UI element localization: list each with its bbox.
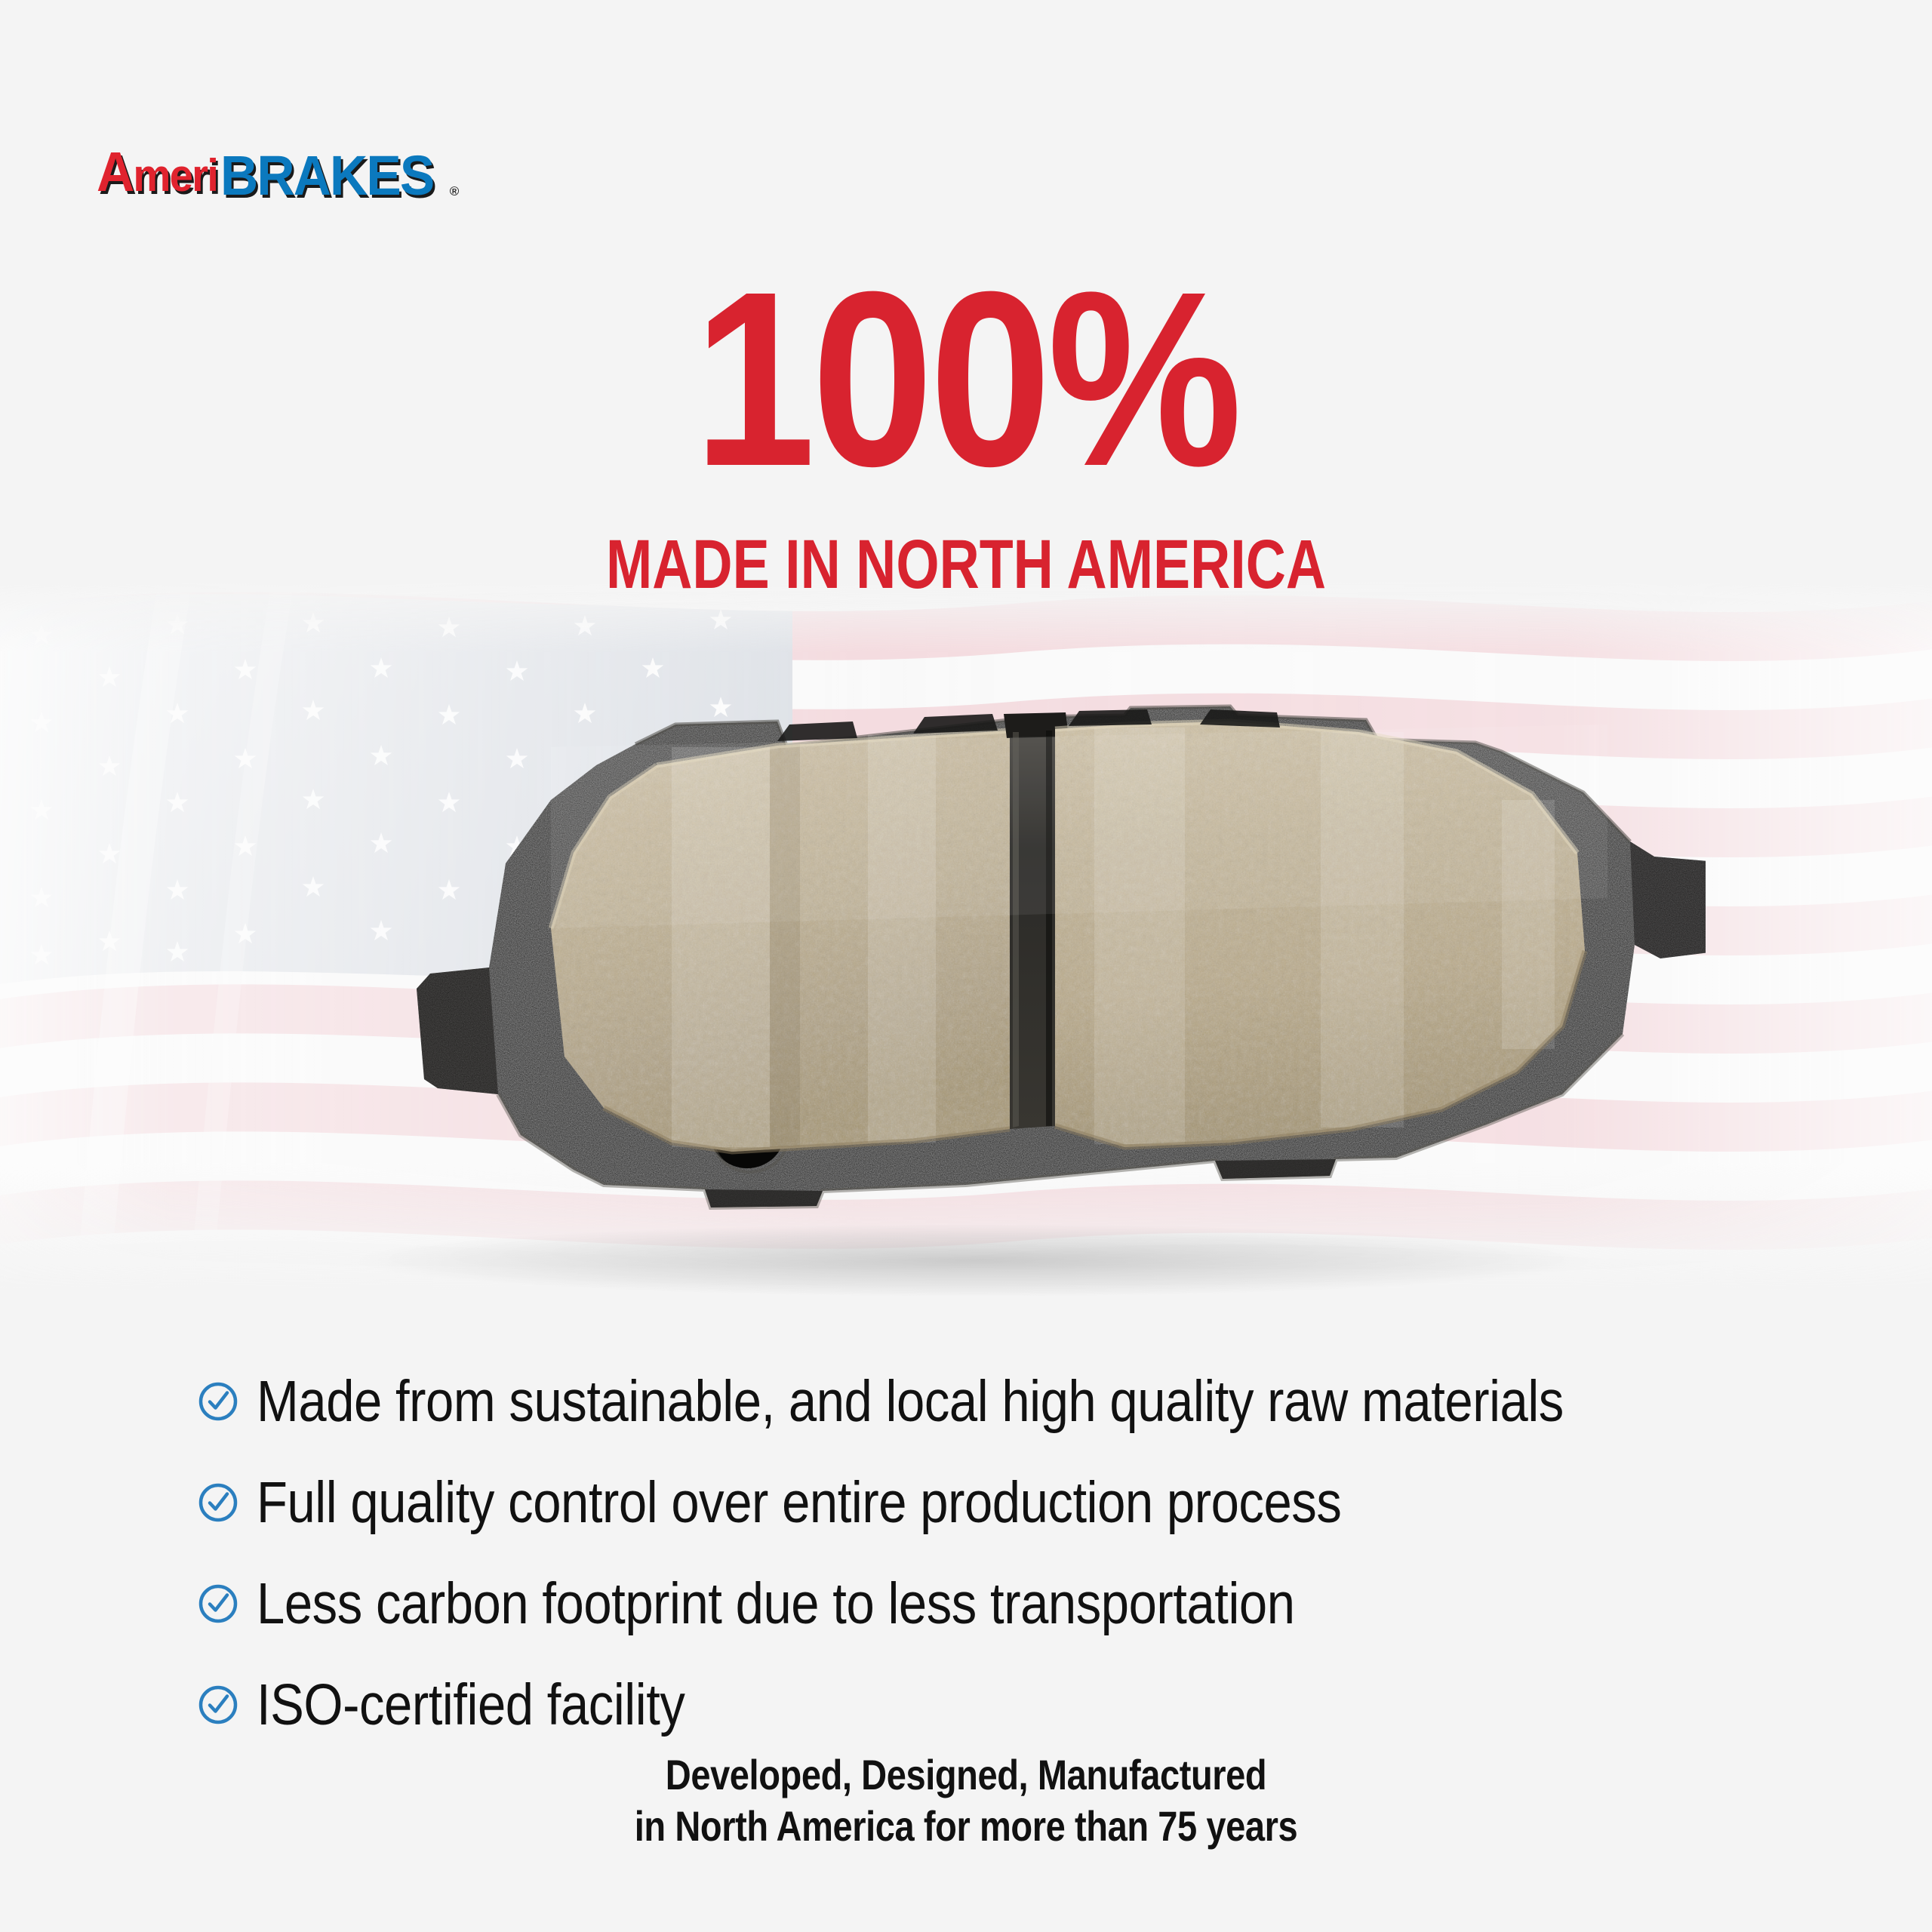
check-circle-icon bbox=[198, 1583, 238, 1624]
logo-ameri-rest: meri bbox=[133, 150, 217, 201]
check-circle-svg bbox=[198, 1583, 238, 1624]
logo-text-ameri: Ameri bbox=[97, 144, 217, 204]
check-circle-icon bbox=[198, 1381, 238, 1422]
logo-ameri-cap: A bbox=[97, 140, 133, 203]
list-item: Less carbon footprint due to less transp… bbox=[198, 1553, 1752, 1654]
check-circle-svg bbox=[198, 1684, 238, 1725]
check-circle-icon bbox=[198, 1482, 238, 1523]
list-item-label: Made from sustainable, and local high qu… bbox=[257, 1371, 1564, 1432]
check-circle-svg bbox=[198, 1482, 238, 1523]
footer-tagline: Developed, Designed, Manufactured in Nor… bbox=[0, 1749, 1932, 1852]
list-item: ISO-certified facility bbox=[198, 1654, 1752, 1755]
list-item-label: Full quality control over entire product… bbox=[257, 1472, 1341, 1533]
benefits-list: Made from sustainable, and local high qu… bbox=[198, 1351, 1752, 1755]
promo-graphic: Ameri BRAKES ® 100% MADE IN NORTH AMERIC… bbox=[0, 0, 1932, 1932]
logo-text-brakes: BRAKES bbox=[220, 148, 433, 204]
page-subtitle: MADE IN NORTH AMERICA bbox=[193, 530, 1739, 599]
check-circle-icon bbox=[198, 1684, 238, 1725]
list-item: Full quality control over entire product… bbox=[198, 1452, 1752, 1553]
footer-line-2: in North America for more than 75 years bbox=[155, 1801, 1777, 1852]
registered-trademark-icon: ® bbox=[450, 184, 460, 199]
page-title: 100% bbox=[116, 266, 1817, 492]
list-item-label: Less carbon footprint due to less transp… bbox=[257, 1574, 1295, 1634]
check-circle-svg bbox=[198, 1381, 238, 1422]
list-item-label: ISO-certified facility bbox=[257, 1675, 685, 1735]
pad-shadow bbox=[355, 1224, 1592, 1297]
brand-logo[interactable]: Ameri BRAKES ® bbox=[97, 134, 459, 204]
brake-pad-image bbox=[249, 702, 1706, 1306]
list-item: Made from sustainable, and local high qu… bbox=[198, 1351, 1752, 1452]
brake-pad-svg bbox=[249, 702, 1706, 1306]
footer-line-1: Developed, Designed, Manufactured bbox=[155, 1749, 1777, 1801]
pad-highlight bbox=[551, 724, 1607, 928]
